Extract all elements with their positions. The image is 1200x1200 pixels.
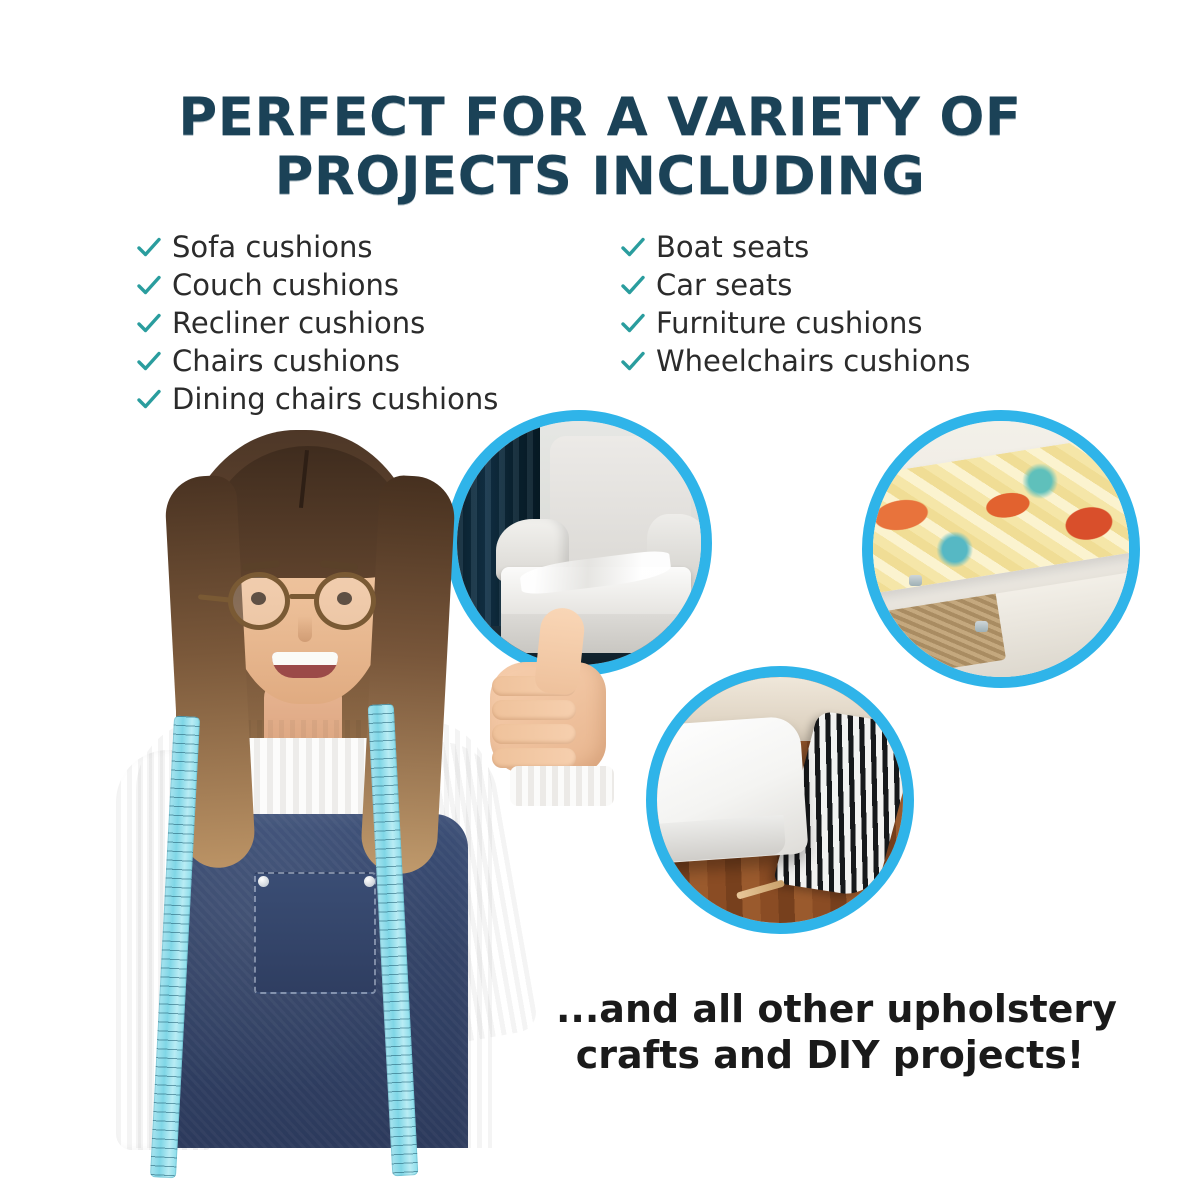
- list-item: Dining chairs cushions: [136, 380, 498, 418]
- list-item-label: Sofa cushions: [172, 228, 372, 266]
- bench-scene: [873, 421, 1129, 677]
- sleeve-cuff: [510, 766, 614, 806]
- storage-bench-photo: [862, 410, 1140, 688]
- foam-scene: [657, 677, 903, 923]
- closing-tagline: ...and all other upholstery crafts and D…: [556, 986, 1104, 1079]
- list-item: Chairs cushions: [136, 342, 498, 380]
- list-item-label: Wheelchairs cushions: [656, 342, 970, 380]
- smiling-mouth: [272, 652, 338, 678]
- check-icon: [620, 234, 646, 260]
- apron-rivet: [258, 876, 269, 887]
- list-item: Sofa cushions: [136, 228, 498, 266]
- check-icon: [620, 310, 646, 336]
- teeth: [272, 652, 338, 665]
- eyeglasses-lens-left: [228, 572, 290, 630]
- eyeglasses-bridge: [289, 594, 317, 599]
- list-item-label: Boat seats: [656, 228, 809, 266]
- apron-rivet: [364, 876, 375, 887]
- list-item: Furniture cushions: [620, 304, 970, 342]
- page-title: PERFECT FOR A VARIETY OF PROJECTS INCLUD…: [0, 88, 1200, 207]
- list-item-label: Couch cushions: [172, 266, 399, 304]
- finger: [492, 700, 576, 720]
- check-icon: [136, 386, 162, 412]
- list-item: Wheelchairs cushions: [620, 342, 970, 380]
- tagline-line-2: crafts and DIY projects!: [556, 1032, 1104, 1078]
- headline-line-1: PERFECT FOR A VARIETY OF: [0, 88, 1200, 147]
- list-item: Recliner cushions: [136, 304, 498, 342]
- nose: [298, 616, 312, 642]
- eyeglasses-lens-right: [314, 572, 376, 630]
- benefits-list-right: Boat seats Car seats Furniture cushions …: [620, 228, 970, 380]
- check-icon: [620, 348, 646, 374]
- thumb: [534, 606, 587, 696]
- check-icon: [136, 234, 162, 260]
- finger: [492, 748, 576, 768]
- list-item: Boat seats: [620, 228, 970, 266]
- product-feature-poster: PERFECT FOR A VARIETY OF PROJECTS INCLUD…: [0, 0, 1200, 1200]
- headline-line-2: PROJECTS INCLUDING: [0, 147, 1200, 206]
- basket-knob: [909, 575, 922, 586]
- list-item-label: Car seats: [656, 266, 792, 304]
- check-icon: [136, 272, 162, 298]
- list-item-label: Furniture cushions: [656, 304, 923, 342]
- check-icon: [136, 310, 162, 336]
- list-item-label: Chairs cushions: [172, 342, 400, 380]
- check-icon: [136, 348, 162, 374]
- benefits-list-left: Sofa cushions Couch cushions Recliner cu…: [136, 228, 498, 418]
- list-item-label: Dining chairs cushions: [172, 380, 498, 418]
- finger: [492, 724, 576, 744]
- check-icon: [620, 272, 646, 298]
- list-item-label: Recliner cushions: [172, 304, 425, 342]
- thumbs-up-icon: [482, 614, 630, 804]
- tagline-line-1: ...and all other upholstery: [556, 986, 1104, 1032]
- list-item: Car seats: [620, 266, 970, 304]
- basket-knob: [975, 621, 988, 632]
- foam-cushion-photo: [646, 666, 914, 934]
- apron-pocket: [254, 872, 376, 994]
- list-item: Couch cushions: [136, 266, 498, 304]
